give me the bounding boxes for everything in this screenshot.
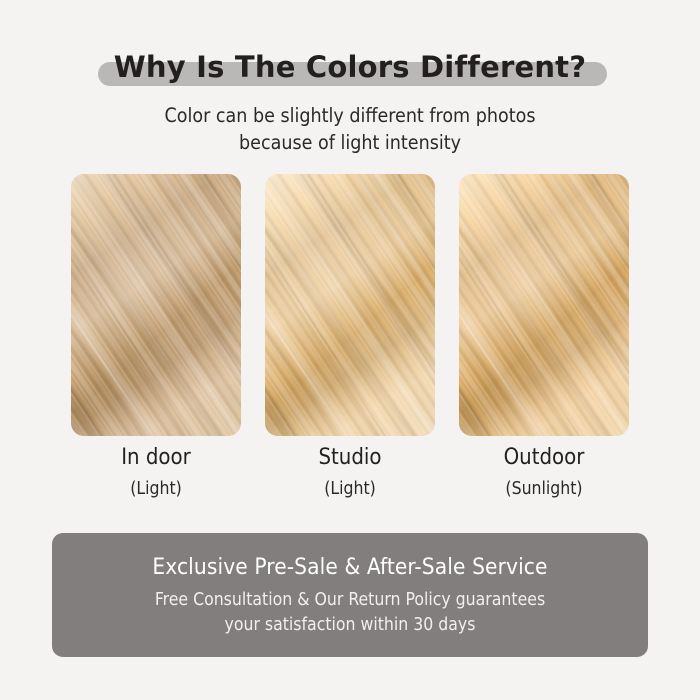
hair-color-swatch-row — [71, 174, 629, 436]
service-banner-sub-line-1: Free Consultation & Our Return Policy gu… — [155, 588, 545, 613]
page-title-block: Why Is The Colors Different? — [0, 44, 700, 90]
page-subtitle-line-1: Color can be slightly different from pho… — [0, 102, 700, 129]
swatch-label-indoor-main: In door — [71, 444, 241, 472]
swatch-label-studio-sub: (Light) — [265, 476, 435, 502]
swatch-label-indoor-sub: (Light) — [71, 476, 241, 502]
hair-swatch-indoor — [71, 174, 241, 436]
swatch-label-indoor: In door (Light) — [71, 444, 241, 502]
service-banner-subtitle: Free Consultation & Our Return Policy gu… — [155, 588, 545, 638]
page-title: Why Is The Colors Different? — [114, 50, 587, 84]
swatch-label-studio-main: Studio — [265, 444, 435, 472]
swatch-label-outdoor-main: Outdoor — [459, 444, 629, 472]
hair-vignette-overlay — [265, 174, 435, 436]
swatch-label-studio: Studio (Light) — [265, 444, 435, 502]
swatch-label-outdoor: Outdoor (Sunlight) — [459, 444, 629, 502]
page-subtitle: Color can be slightly different from pho… — [0, 102, 700, 156]
product-info-graphic: Why Is The Colors Different? Color can b… — [0, 0, 700, 700]
hair-vignette-overlay — [71, 174, 241, 436]
hair-swatch-outdoor — [459, 174, 629, 436]
service-banner-title: Exclusive Pre-Sale & After-Sale Service — [152, 552, 547, 582]
hair-swatch-studio — [265, 174, 435, 436]
swatch-labels-row: In door (Light) Studio (Light) Outdoor (… — [71, 444, 629, 502]
swatch-label-outdoor-sub: (Sunlight) — [459, 476, 629, 502]
page-subtitle-line-2: because of light intensity — [0, 129, 700, 156]
hair-vignette-overlay — [459, 174, 629, 436]
service-banner-sub-line-2: your satisfaction within 30 days — [155, 613, 545, 638]
service-banner: Exclusive Pre-Sale & After-Sale Service … — [52, 533, 648, 657]
